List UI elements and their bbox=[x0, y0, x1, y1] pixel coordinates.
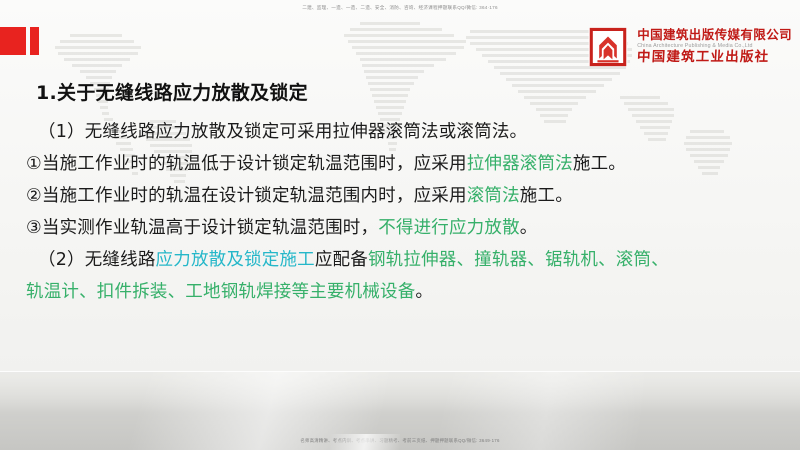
item-1-run-0: （1）无缝线路应力放散及锁定可采用拉伸器滚筒法或滚筒法。 bbox=[38, 122, 527, 142]
paragraph-list: （1）无缝线路应力放散及锁定可采用拉伸器滚筒法或滚筒法。①当施工作业时的轨温低于… bbox=[0, 116, 800, 308]
item-2-line-a-run-0: （2）无缝线路 bbox=[38, 250, 156, 270]
logo-text-group: 中国建筑出版传媒有限公司 China Architecture Publishi… bbox=[637, 29, 792, 65]
red-block-small bbox=[30, 27, 39, 55]
item-circle-3-run-0: ③当实测作业轨温高于设计锁定轨温范围时， bbox=[26, 218, 378, 238]
bottom-watermark-text: 名师高清精讲、考点内训、考点串讲、习题精考、考前三页纸、押题押题联系QQ/微信:… bbox=[300, 438, 499, 444]
logo-company-cn: 中国建筑出版传媒有限公司 bbox=[637, 29, 792, 43]
item-circle-1-run-1: 拉伸器滚筒法 bbox=[467, 154, 573, 174]
item-circle-2-run-1: 滚筒法 bbox=[467, 186, 520, 206]
publisher-logo: 中国建筑出版传媒有限公司 China Architecture Publishi… bbox=[586, 25, 792, 69]
item-circle-1-run-0: ①当施工作业时的轨温低于设计锁定轨温范围时，应采用 bbox=[26, 154, 467, 174]
item-circle-2: ②当施工作业时的轨温在设计锁定轨温范围内时，应采用滚筒法施工。 bbox=[26, 180, 800, 212]
item-2-line-a-run-3: 钢轨拉伸器、撞轨器、锯轨机、滚筒、 bbox=[368, 250, 669, 270]
item-2-line-a-run-1: 应力放散及锁定施工 bbox=[156, 250, 315, 270]
publisher-emblem-icon bbox=[586, 25, 630, 69]
slide-content: 1.关于无缝线路应力放散及锁定 （1）无缝线路应力放散及锁定可采用拉伸器滚筒法或… bbox=[0, 78, 800, 308]
red-block-large bbox=[0, 27, 26, 55]
item-circle-3-run-2: 。 bbox=[520, 218, 538, 238]
item-2-line-b: 轨温计、扣件拆装、工地钢轨焊接等主要机械设备。 bbox=[26, 276, 800, 308]
item-circle-3-run-1: 不得进行应力放散 bbox=[378, 218, 520, 238]
item-circle-3: ③当实测作业轨温高于设计锁定轨温范围时，不得进行应力放散。 bbox=[26, 212, 800, 244]
item-circle-1-run-2: 施工。 bbox=[573, 154, 626, 174]
bottom-watermark-bar: 名师高清精讲、考点内训、考点串讲、习题精考、考前三页纸、押题押题联系QQ/微信:… bbox=[0, 435, 800, 447]
item-circle-1: ①当施工作业时的轨温低于设计锁定轨温范围时，应采用拉伸器滚筒法施工。 bbox=[26, 148, 800, 180]
floor-edge-line bbox=[0, 371, 800, 372]
presentation-slide: 二建、监理、一造、一造、二造、安全、消防、咨询、经济课程押题联系QQ/微信: 3… bbox=[0, 0, 800, 450]
page-title: 1.关于无缝线路应力放散及锁定 bbox=[36, 78, 800, 105]
top-watermark-bar: 二建、监理、一造、一造、二造、安全、消防、咨询、经济课程押题联系QQ/微信: 3… bbox=[0, 0, 800, 16]
item-2-line-a: （2）无缝线路应力放散及锁定施工应配备钢轨拉伸器、撞轨器、锯轨机、滚筒、 bbox=[38, 244, 800, 276]
top-watermark-text: 二建、监理、一造、一造、二造、安全、消防、咨询、经济课程押题联系QQ/微信: 3… bbox=[302, 5, 498, 11]
item-2-line-b-run-1: 。 bbox=[415, 282, 433, 302]
item-circle-2-run-0: ②当施工作业时的轨温在设计锁定轨温范围内时，应采用 bbox=[26, 186, 467, 206]
item-circle-2-run-2: 施工。 bbox=[520, 186, 573, 206]
item-2-line-b-run-0: 轨温计、扣件拆装、工地钢轨焊接等主要机械设备 bbox=[26, 282, 415, 302]
item-2-line-a-run-2: 应配备 bbox=[315, 250, 368, 270]
logo-press-cn: 中国建筑工业出版社 bbox=[637, 50, 793, 65]
item-1: （1）无缝线路应力放散及锁定可采用拉伸器滚筒法或滚筒法。 bbox=[38, 116, 800, 148]
